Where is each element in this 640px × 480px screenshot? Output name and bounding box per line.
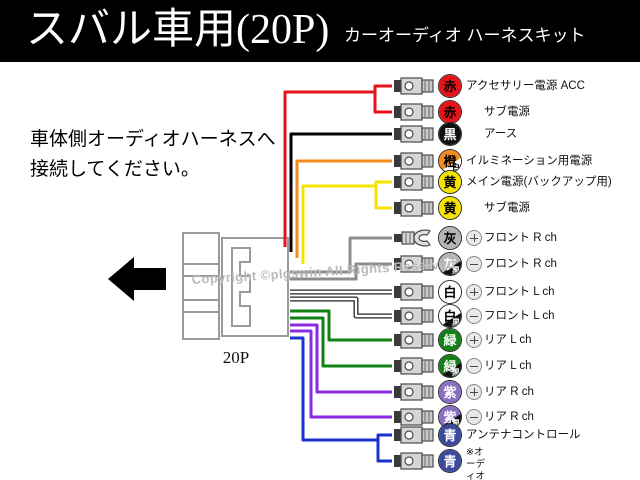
wire-blue-antenna bbox=[290, 338, 392, 440]
fork-terminal-icon bbox=[394, 229, 434, 247]
wire-blue-antenna-2 bbox=[378, 440, 392, 461]
terminal-label: フロント R ch bbox=[484, 230, 557, 246]
usage-note-text: ※オーディオデッキの形状 に合わせて接続ご使用ください。 bbox=[466, 447, 485, 480]
terminal-label: アース bbox=[484, 126, 517, 142]
blade-terminal-icon bbox=[394, 283, 434, 301]
terminal-label: フロント R ch bbox=[484, 256, 557, 272]
terminal-label: サブ電源 bbox=[484, 200, 530, 216]
wire-gray-front-r-plus bbox=[290, 238, 392, 272]
wire-color-badge: 赤 bbox=[438, 74, 462, 98]
blade-terminal-icon bbox=[394, 452, 434, 470]
blade-terminal-icon bbox=[394, 255, 434, 273]
blade-terminal-icon bbox=[394, 199, 434, 217]
polarity-minus-icon bbox=[466, 409, 482, 425]
wire-color-badge: 緑 bbox=[438, 328, 462, 352]
polarity-minus-icon bbox=[466, 358, 482, 374]
wire-color-badge: 黄 bbox=[438, 196, 462, 220]
blade-terminal-icon bbox=[394, 125, 434, 143]
terminal-label: リア L ch bbox=[484, 358, 532, 374]
wire-color-badge: 白 bbox=[438, 280, 462, 304]
wire-purple-rear-r-minus bbox=[290, 331, 392, 417]
polarity-plus-icon bbox=[466, 284, 482, 300]
blade-terminal-icon bbox=[394, 331, 434, 349]
terminal-label: メイン電源(バックアップ用) bbox=[466, 174, 612, 190]
blade-terminal-icon bbox=[394, 103, 434, 121]
terminal-label: リア L ch bbox=[484, 332, 532, 348]
terminal-label: フロント L ch bbox=[484, 284, 555, 300]
terminal-label: リア R ch bbox=[484, 409, 534, 425]
wire-color-badge: 黒 bbox=[438, 122, 462, 146]
wire-purple-rear-r-plus bbox=[290, 325, 392, 392]
wire-red-sub bbox=[375, 92, 392, 112]
wire-yellow-sub bbox=[376, 186, 392, 208]
wire-yellow-main bbox=[303, 182, 392, 264]
terminal-label: サブ電源 bbox=[484, 104, 530, 120]
terminal-label: アクセサリー電源 ACC bbox=[466, 78, 585, 94]
harness-diagram-page: スバル車用(20P) カーオーディオ ハーネスキット 車体側オーディオハーネスへ… bbox=[0, 0, 640, 480]
wire-color-badge: 赤 bbox=[438, 100, 462, 124]
blade-terminal-icon bbox=[394, 77, 434, 95]
terminal-label: イルミネーション用電源 bbox=[466, 153, 592, 169]
wire-color-badge: 青 bbox=[438, 449, 462, 473]
blade-terminal-icon bbox=[394, 383, 434, 401]
wire-color-badge: 白黒 bbox=[438, 304, 462, 328]
terminal-label: フロント L ch bbox=[484, 308, 555, 324]
polarity-plus-icon bbox=[466, 332, 482, 348]
blade-terminal-icon bbox=[394, 307, 434, 325]
polarity-minus-icon bbox=[466, 308, 482, 324]
polarity-minus-icon bbox=[466, 256, 482, 272]
terminal-label: リア R ch bbox=[484, 384, 534, 400]
wire-color-badge: 灰 bbox=[438, 226, 462, 250]
wire-color-badge: 紫 bbox=[438, 380, 462, 404]
wire-white-black-front-l-minus bbox=[290, 299, 392, 316]
blade-terminal-icon bbox=[394, 426, 434, 444]
wire-color-badge: 青 bbox=[438, 423, 462, 447]
blade-terminal-icon bbox=[394, 173, 434, 191]
wire-color-badge: 黄 bbox=[438, 170, 462, 194]
polarity-plus-icon bbox=[466, 384, 482, 400]
blade-terminal-icon bbox=[394, 408, 434, 426]
polarity-plus-icon bbox=[466, 230, 482, 246]
terminal-label: アンテナコントロール bbox=[466, 427, 581, 443]
blade-terminal-icon bbox=[394, 357, 434, 375]
blade-terminal-icon bbox=[394, 152, 434, 170]
wire-color-badge: 灰黒 bbox=[438, 252, 462, 276]
wire-color-badge: 緑黒 bbox=[438, 354, 462, 378]
